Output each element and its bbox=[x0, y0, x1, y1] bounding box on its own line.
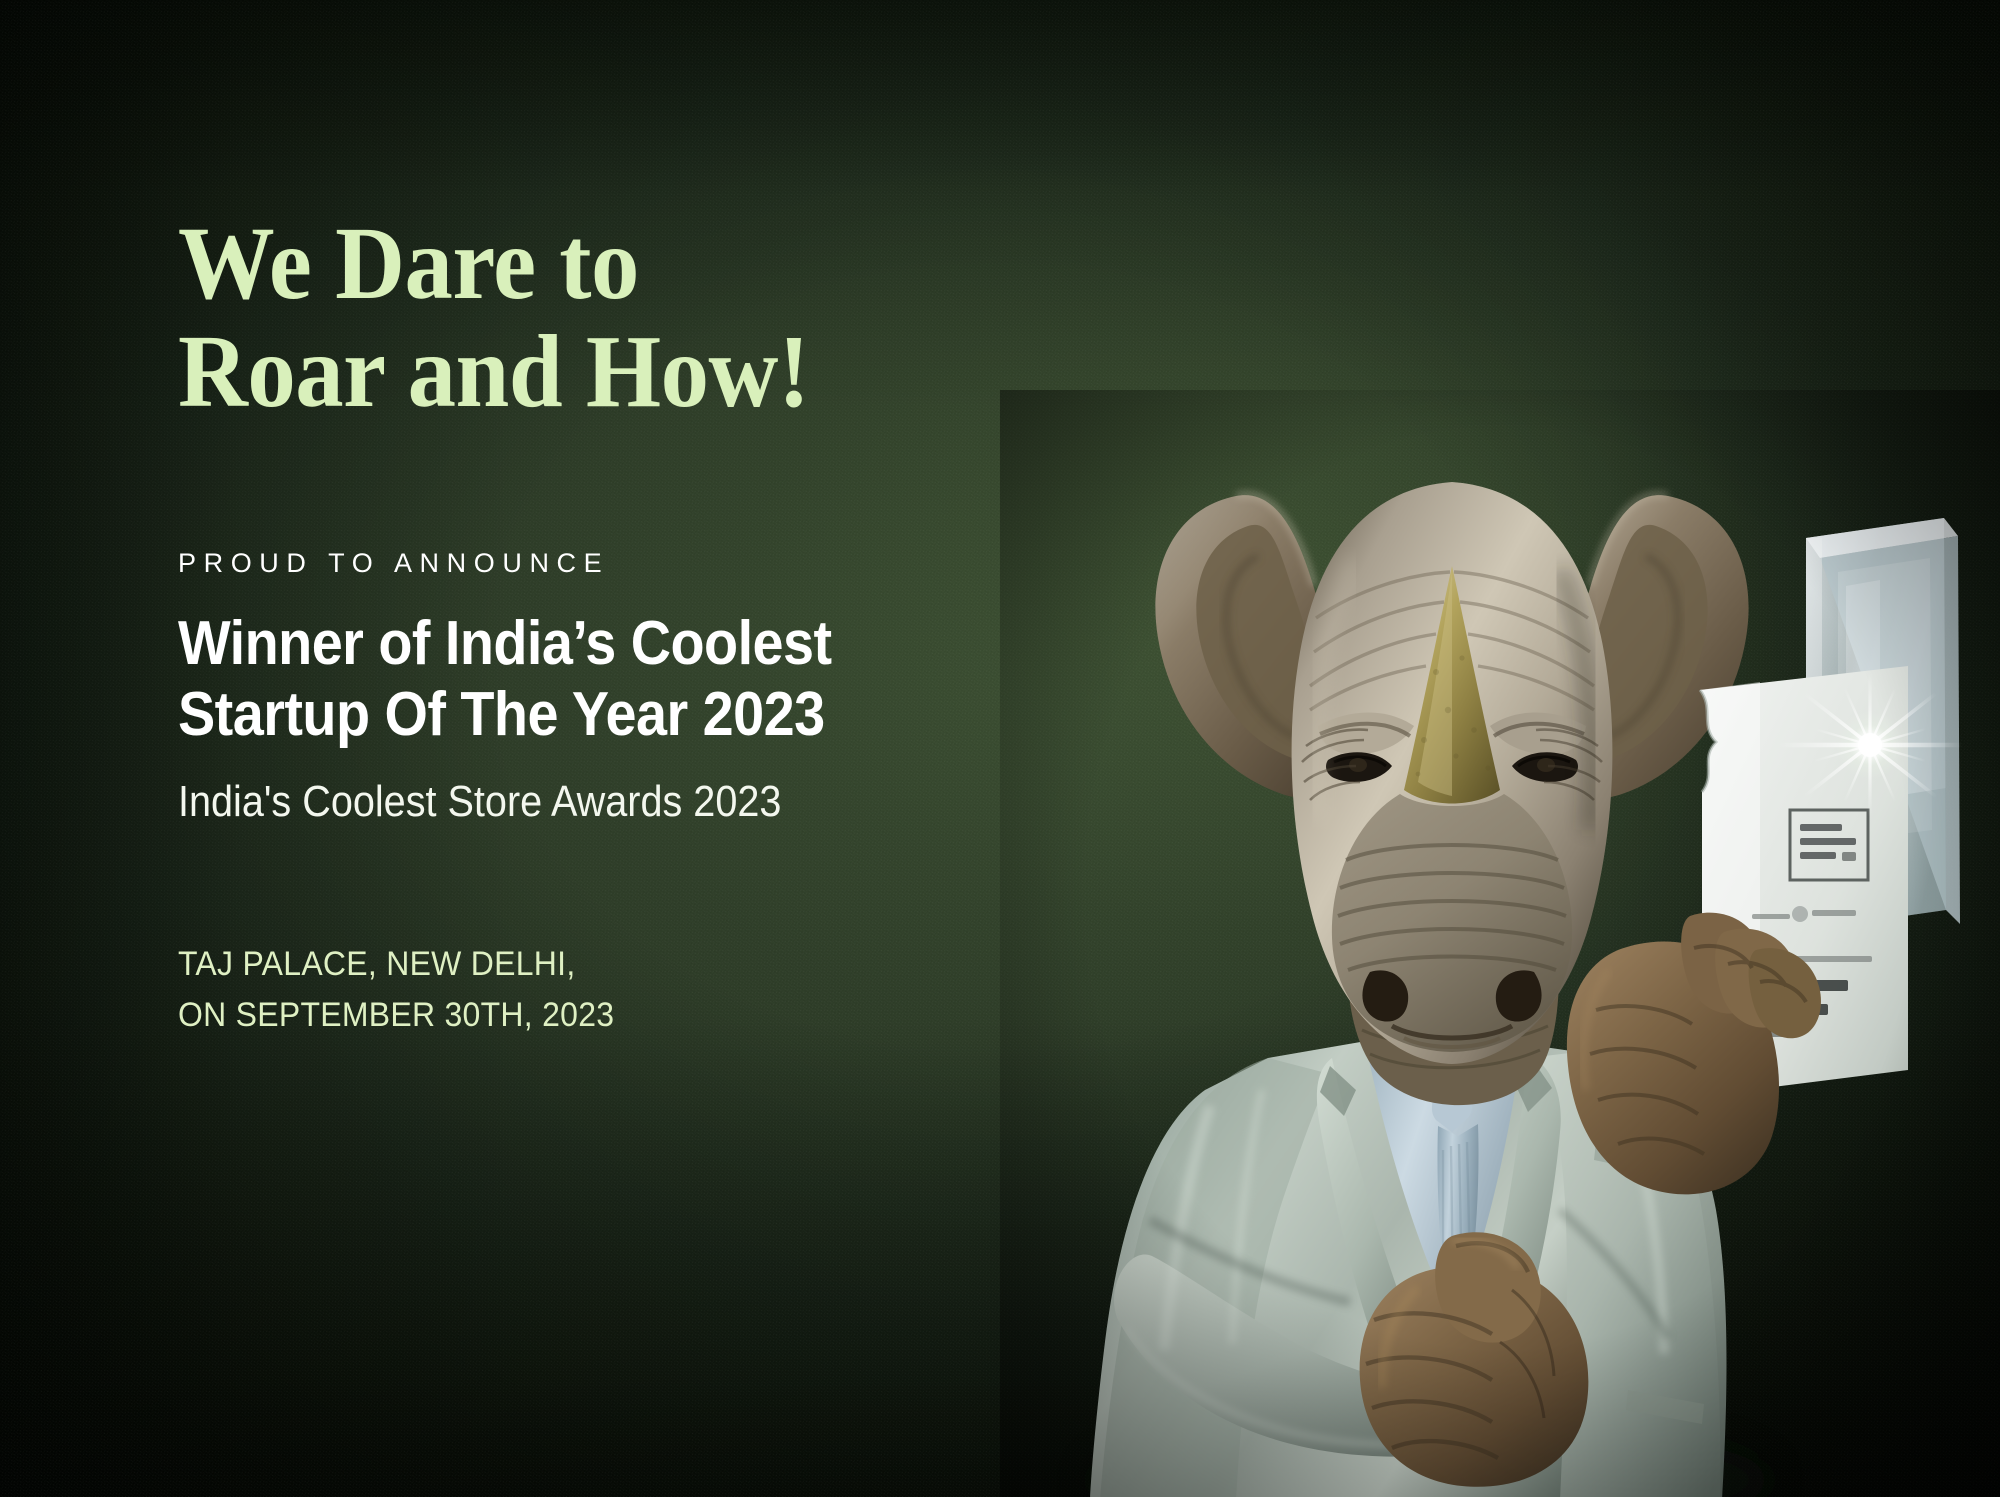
award-title: Winner of India’s Coolest Startup Of The… bbox=[178, 609, 1060, 750]
poster-copy-block: We Dare to Roar and How! PROUD TO ANNOUN… bbox=[178, 210, 1158, 1041]
event-details: TAJ PALACE, NEW DELHI, ON SEPTEMBER 30TH… bbox=[178, 939, 1099, 1041]
announcement-eyebrow: PROUD TO ANNOUNCE bbox=[178, 548, 1158, 579]
award-subtitle: India's Coolest Store Awards 2023 bbox=[178, 777, 1060, 828]
page-title: We Dare to Roar and How! bbox=[178, 210, 1089, 426]
poster-canvas: We Dare to Roar and How! PROUD TO ANNOUN… bbox=[0, 0, 2000, 1497]
